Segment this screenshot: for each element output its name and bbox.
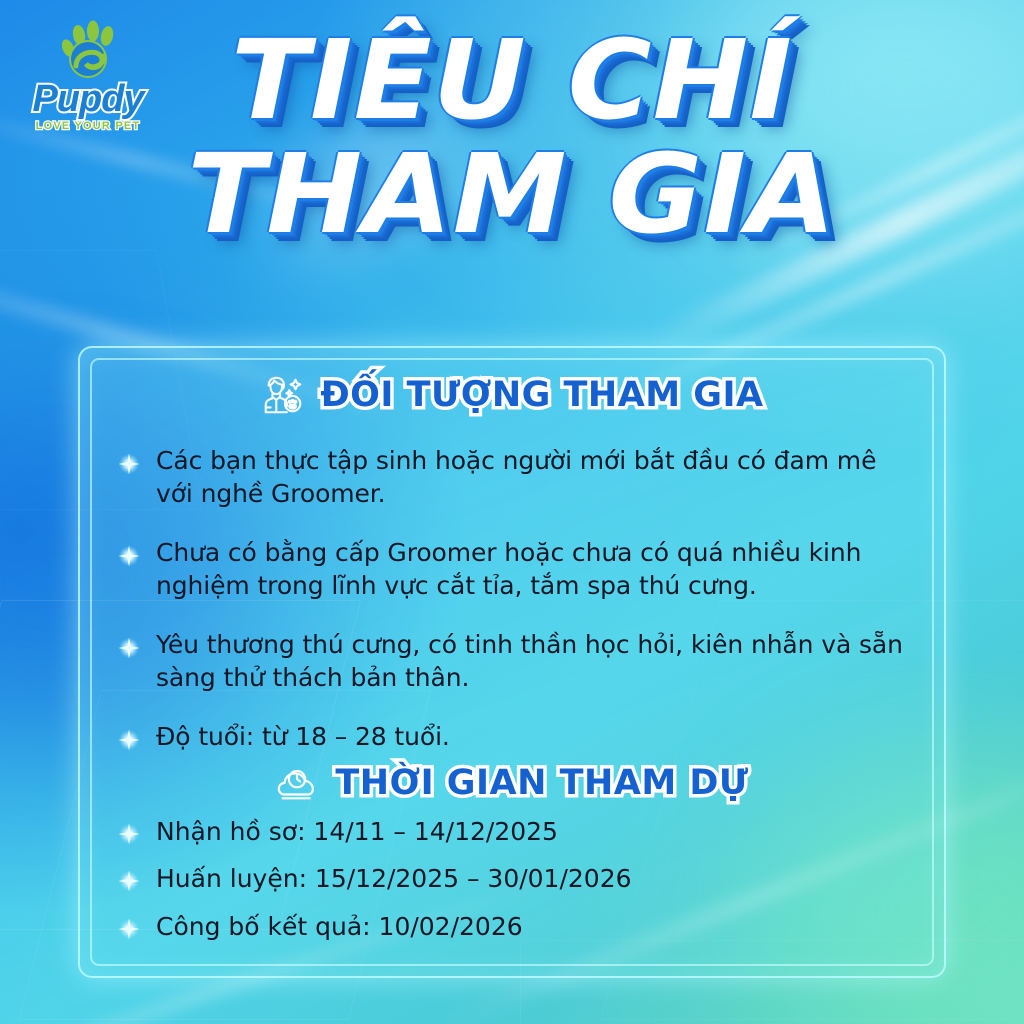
list-item-text: Yêu thương thú cưng, có tinh thần học hỏ… [156,628,908,694]
clock-cloud-icon [275,760,321,806]
list-item-text: Độ tuổi: từ 18 – 28 tuổi. [156,720,908,753]
list-item-text: Nhận hồ sơ: 14/11 – 14/12/2025 [156,816,908,847]
groomer-person-paw-icon [260,372,306,418]
title-line-1: TIÊU CHÍ [0,28,1024,134]
schedule-list: Nhận hồ sơ: 14/11 – 14/12/2025Huấn luyện… [118,816,908,958]
section-heading-label: THỜI GIAN THAM DỰ [335,763,748,803]
title-line-2: THAM GIA [0,142,1024,248]
list-item-text: Chưa có bằng cấp Groomer hoặc chưa có qu… [156,536,908,602]
sparkle-star-icon [118,870,140,892]
list-item-text: Các bạn thực tập sinh hoặc người mới bắt… [156,444,908,510]
list-item-text: Huấn luyện: 15/12/2025 – 30/01/2026 [156,863,908,894]
requirements-list: Các bạn thực tập sinh hoặc người mới bắt… [118,444,908,779]
list-item: Yêu thương thú cưng, có tinh thần học hỏ… [118,628,908,694]
list-item: Chưa có bằng cấp Groomer hoặc chưa có qu… [118,536,908,602]
list-item: Các bạn thực tập sinh hoặc người mới bắt… [118,444,908,510]
list-item: Nhận hồ sơ: 14/11 – 14/12/2025 [118,816,908,847]
sparkle-star-icon [118,729,140,751]
sparkle-star-icon [118,918,140,940]
sparkle-star-icon [118,823,140,845]
poster-canvas: Pupdy LOVE YOUR PET TIÊU CHÍ THAM GIA [0,0,1024,1024]
page-title: TIÊU CHÍ THAM GIA [0,28,1024,247]
sparkle-star-icon [118,545,140,567]
section-heading-doi-tuong-tham-gia: ĐỐI TƯỢNG THAM GIA [0,372,1024,418]
list-item: Huấn luyện: 15/12/2025 – 30/01/2026 [118,863,908,894]
list-item-text: Công bố kết quả: 10/02/2026 [156,911,908,942]
sparkle-star-icon [118,453,140,475]
section-heading-label: ĐỐI TƯỢNG THAM GIA [320,375,763,415]
list-item: Công bố kết quả: 10/02/2026 [118,911,908,942]
list-item: Độ tuổi: từ 18 – 28 tuổi. [118,720,908,753]
section-heading-thoi-gian-tham-du: THỜI GIAN THAM DỰ [0,760,1024,806]
sparkle-star-icon [118,637,140,659]
